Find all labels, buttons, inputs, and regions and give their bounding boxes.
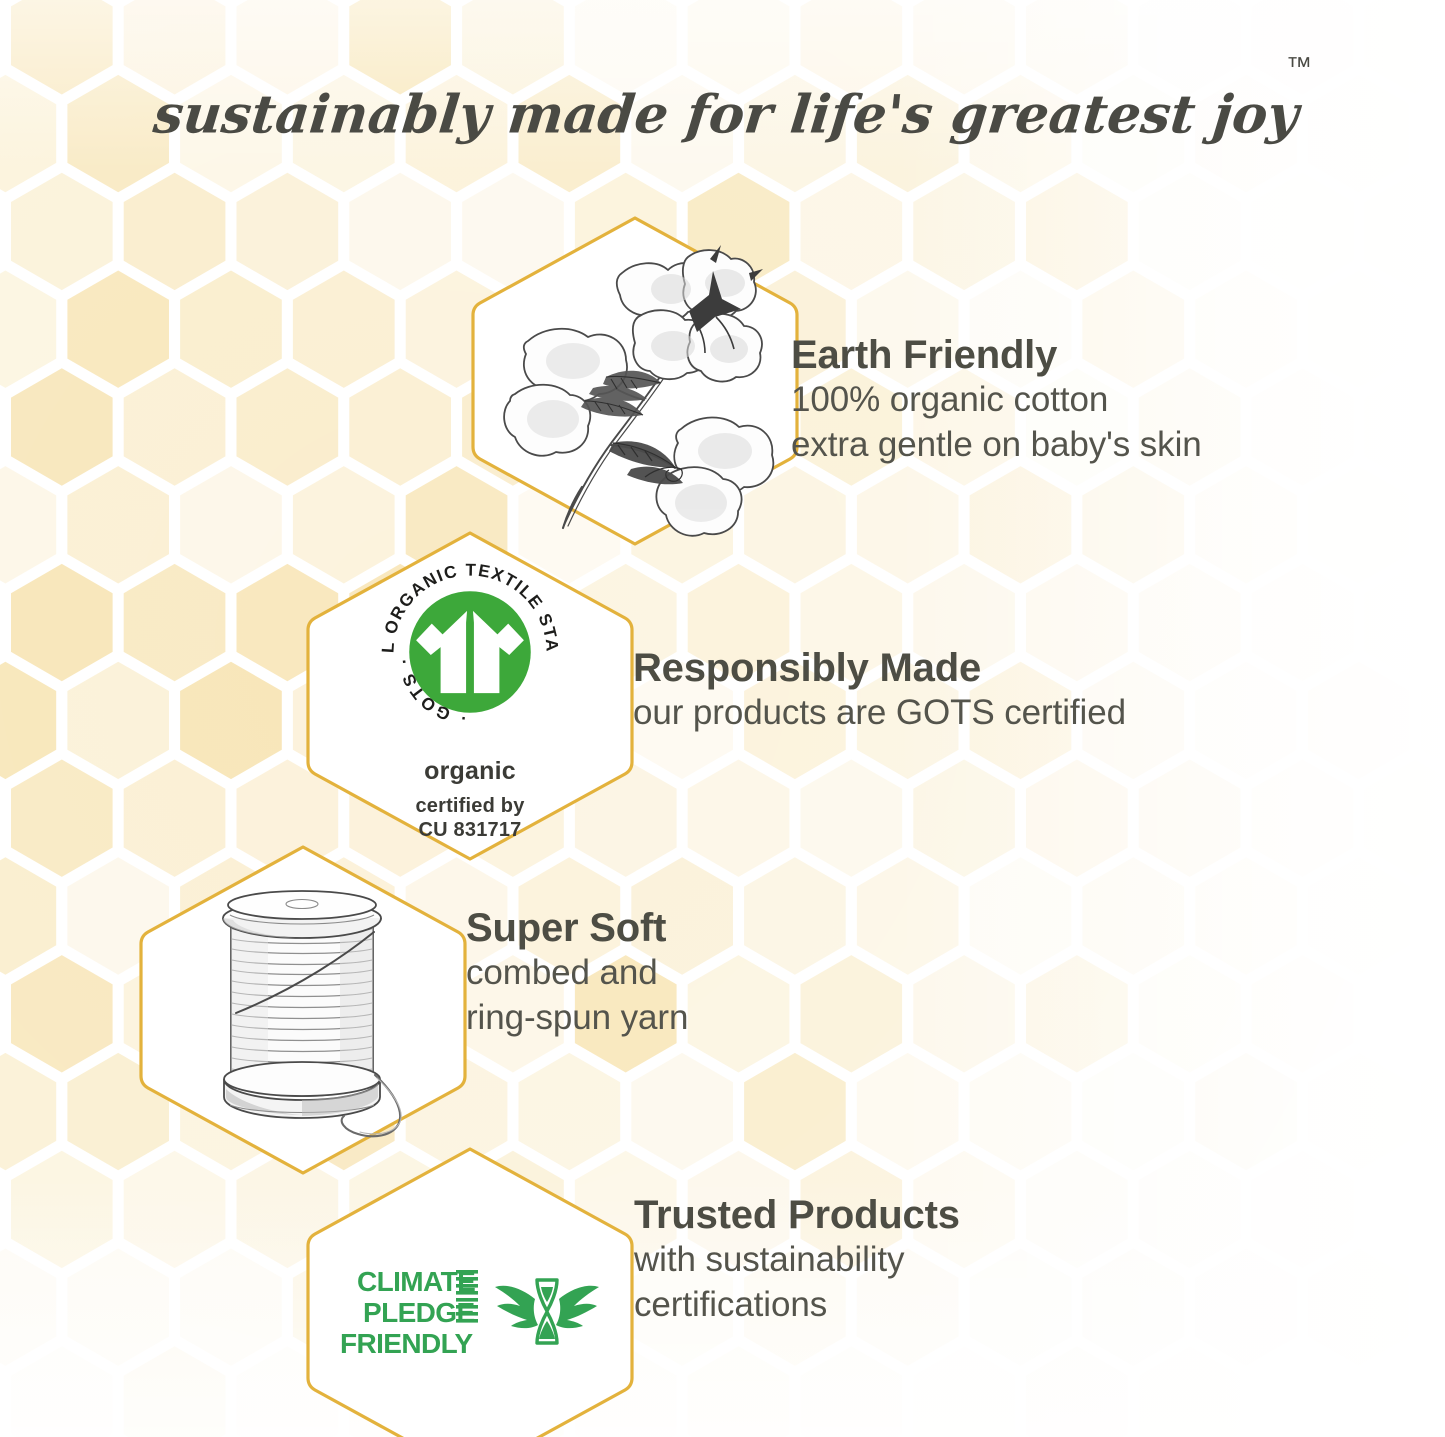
climate-pledge-friendly-wordmark: CLIMATE PLEDGE FRIENDLY [339, 1264, 479, 1360]
feature-subtitle-line: combed and [466, 951, 688, 996]
thread-spool-sketch-icon [178, 875, 428, 1145]
feature-hex-responsibly-made: GLOBAL ORGANIC TEXTILE STANDARD · GOTS ·… [303, 528, 637, 864]
winged-hourglass-icon [493, 1271, 601, 1353]
feature-text-earth-friendly: Earth Friendly 100% organic cotton extra… [791, 332, 1202, 468]
feature-subtitle-line: certifications [634, 1283, 960, 1328]
headline-script: sustainably made for life's greatest joy [149, 84, 1304, 146]
feature-title: Trusted Products [634, 1192, 960, 1238]
feature-subtitle-line: 100% organic cotton [791, 378, 1202, 423]
feature-subtitle-line: with sustainability [634, 1238, 960, 1283]
feature-subtitle-line: extra gentle on baby's skin [791, 423, 1202, 468]
feature-subtitle-line: ring-spun yarn [466, 996, 688, 1041]
cotton-branch-sketch-icon [485, 225, 785, 537]
gots-certified-by-label: certified by [415, 794, 524, 818]
feature-text-responsibly-made: Responsibly Made our products are GOTS c… [633, 645, 1126, 736]
gots-certification-logo: GLOBAL ORGANIC TEXTILE STANDARD · GOTS · [372, 554, 568, 750]
gots-organic-label: organic [424, 757, 516, 786]
feature-text-trusted-products: Trusted Products with sustainability cer… [634, 1192, 960, 1328]
page-title: sustainably made for life's greatest joy… [0, 42, 1445, 152]
feature-hex-earth-friendly [468, 213, 802, 549]
feature-title: Super Soft [466, 905, 688, 951]
feature-text-super-soft: Super Soft combed and ring-spun yarn [466, 905, 688, 1041]
gots-certifier-code: CU 831717 [415, 818, 524, 842]
feature-title: Responsibly Made [633, 645, 1126, 691]
trademark-symbol: ™ [1286, 51, 1312, 81]
feature-hex-trusted-products: CLIMATE PLEDGE FRIENDLY [303, 1144, 637, 1437]
feature-subtitle-line: our products are GOTS certified [633, 691, 1126, 736]
feature-title: Earth Friendly [791, 332, 1202, 378]
infographic-canvas: sustainably made for life's greatest joy… [0, 0, 1445, 1437]
cpf-line-3: FRIENDLY [340, 1328, 474, 1359]
feature-hex-super-soft [136, 842, 470, 1178]
